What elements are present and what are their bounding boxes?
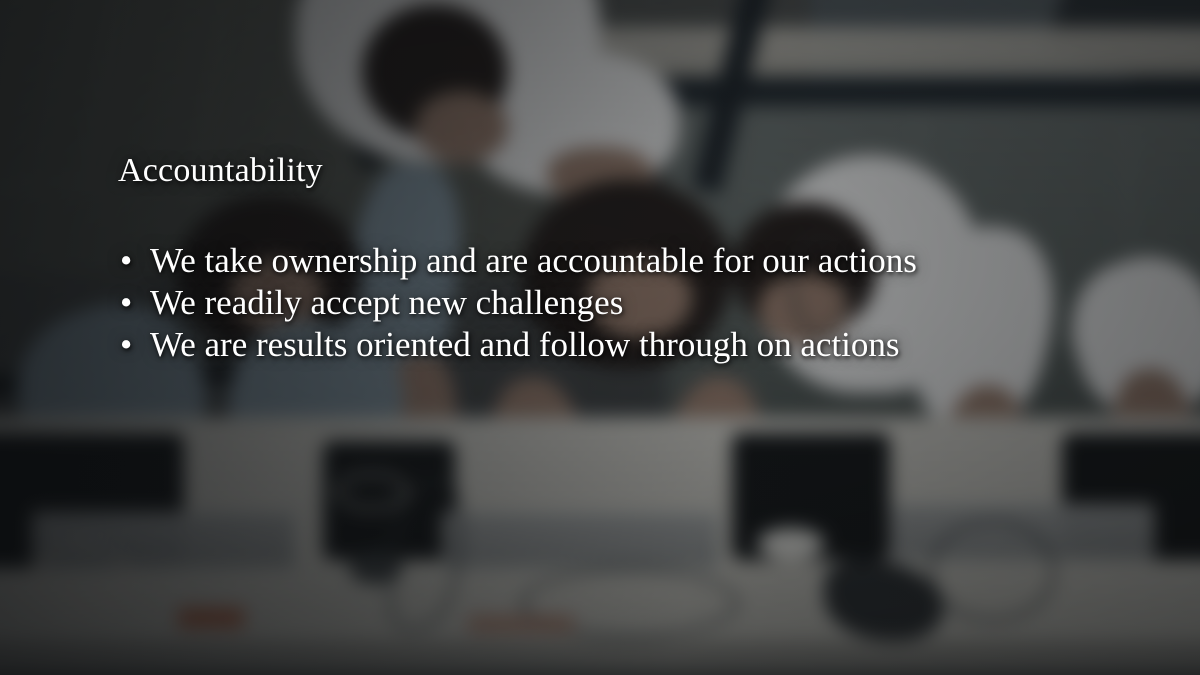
bullet-item-2: • We readily accept new challenges bbox=[118, 282, 968, 324]
bullet-marker-icon: • bbox=[120, 240, 132, 282]
bullet-text: We take ownership and are accountable fo… bbox=[150, 241, 917, 280]
bullet-item-3: • We are results oriented and follow thr… bbox=[118, 324, 968, 366]
presentation-slide: Accountability • We take ownership and a… bbox=[0, 0, 1200, 675]
bullet-marker-icon: • bbox=[120, 324, 132, 366]
slide-content: Accountability • We take ownership and a… bbox=[118, 150, 968, 366]
bullet-list: • We take ownership and are accountable … bbox=[118, 240, 968, 366]
bullet-marker-icon: • bbox=[120, 282, 132, 324]
slide-title: Accountability bbox=[118, 150, 968, 192]
bullet-text: We are results oriented and follow throu… bbox=[150, 325, 899, 364]
bullet-item-1: • We take ownership and are accountable … bbox=[118, 240, 968, 282]
bullet-text: We readily accept new challenges bbox=[150, 283, 623, 322]
